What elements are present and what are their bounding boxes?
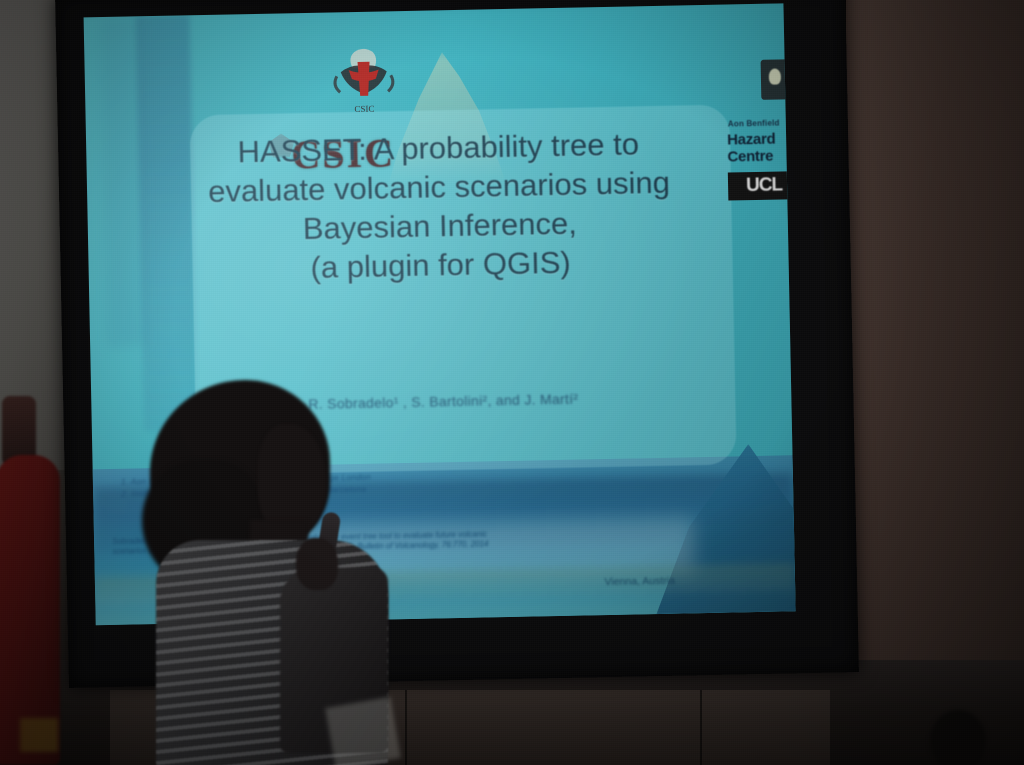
- lightbulb-icon: [769, 68, 781, 84]
- slide-title-line: (a plugin for QGIS): [140, 239, 741, 290]
- ucl-logo: UCL: [728, 171, 796, 200]
- ucl-strapline: Aon Benfield: [728, 118, 780, 128]
- csic-wordmark: CSIC: [291, 129, 396, 178]
- presenter-hand: [296, 538, 338, 590]
- pdf-tooltip-line1: Click on Tools and options: [787, 66, 796, 76]
- csic-crest-caption: CSIC: [354, 104, 374, 114]
- slide-title-line: Bayesian Inference,: [139, 200, 740, 251]
- volcano-watermark-icon: [384, 51, 507, 188]
- presenter-notes: [325, 697, 401, 765]
- slide-left-band-soft: [100, 16, 147, 347]
- csic-crest-icon: CSIC: [324, 45, 403, 119]
- slide-title-line: HASSET: A probability tree to: [138, 122, 739, 173]
- cabinet-seam: [700, 690, 702, 765]
- slide-left-band: [136, 15, 198, 431]
- slide-title: HASSET: A probability tree to evaluate v…: [138, 122, 741, 290]
- csic-ghost-mark: [268, 133, 294, 158]
- presenter-silhouette: [130, 372, 430, 765]
- slide-footer-location: Vienna, Austria: [604, 575, 675, 588]
- right-wall: [846, 0, 1024, 700]
- pdf-tooltip-banner[interactable]: Click on Tools and options here in PDF: [761, 57, 796, 100]
- fire-extinguisher-base: [20, 718, 58, 752]
- pdf-tooltip-line2: here in PDF: [787, 74, 796, 84]
- presenter-face: [258, 424, 326, 534]
- ucl-hazard-centre-name: Hazard Centre: [727, 130, 787, 165]
- wall-dark-oval: [930, 710, 986, 765]
- pdf-tooltip-text: Click on Tools and options here in PDF: [787, 66, 796, 84]
- ucl-logo-text: UCL: [746, 174, 782, 197]
- volcano-peak-shape: [652, 443, 795, 616]
- slide-title-line: evaluate volcanic scenarios using: [139, 161, 740, 212]
- conference-room-photo: CSIC CSIC Aon Benfield Hazard Centre UCL…: [0, 0, 1024, 765]
